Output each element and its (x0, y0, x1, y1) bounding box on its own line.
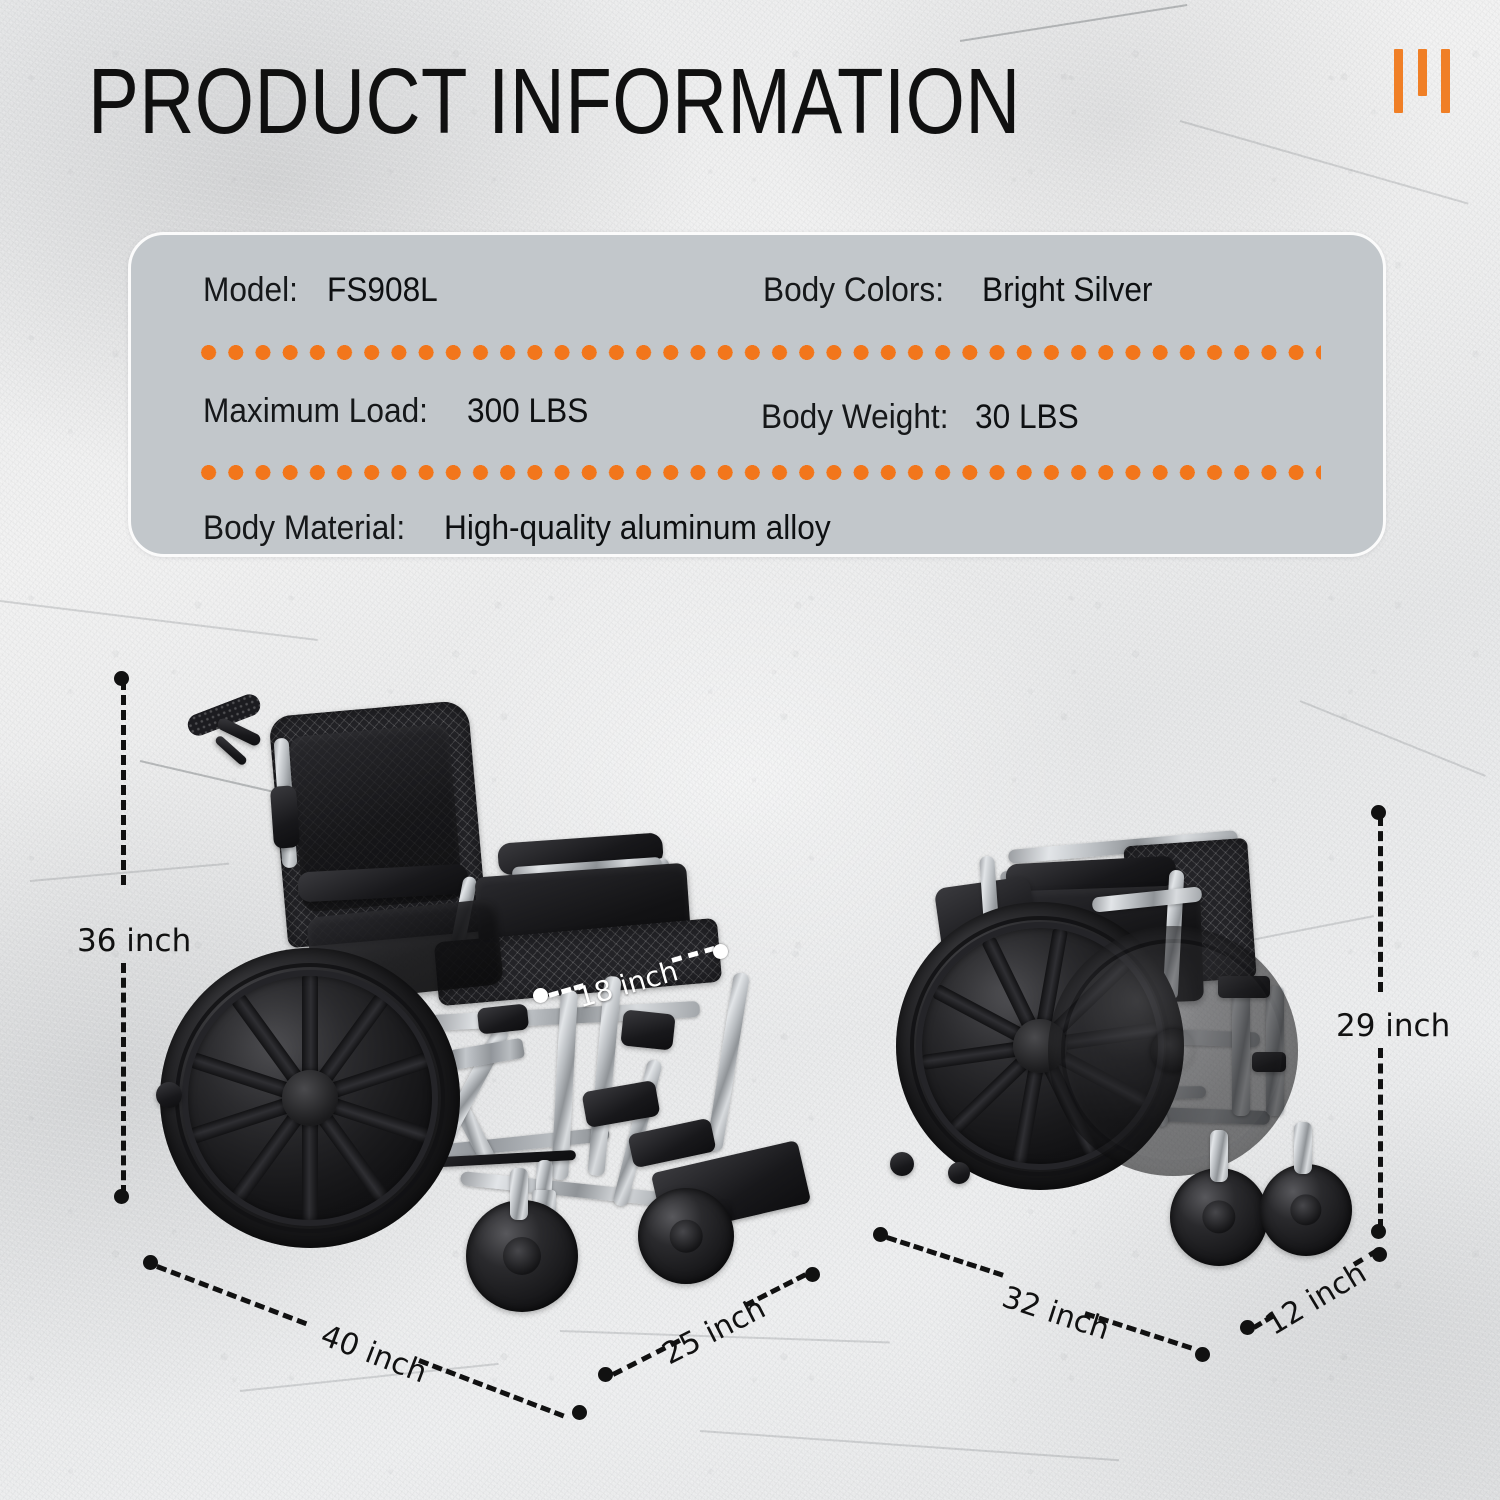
spec-cell-body-colors: Body Colors:Bright Silver (763, 259, 1165, 321)
spec-value: 300 LBS (467, 380, 588, 442)
legrest-pad (581, 1080, 660, 1128)
spec-value: FS908L (327, 259, 438, 321)
dotted-divider (195, 345, 1321, 360)
folded-caster-fork (1210, 1130, 1228, 1182)
spec-cell-body-material: Body Material:High-quality aluminum allo… (203, 497, 860, 559)
spec-cell-maximum-load: Maximum Load:300 LBS (203, 380, 597, 442)
spec-value: High-quality aluminum alloy (444, 497, 831, 559)
folded-wheel-knob (948, 1162, 970, 1184)
dim-endpoint-dot (713, 944, 728, 959)
backrest-post-cover (270, 785, 300, 849)
spec-label: Maximum Load: (203, 380, 428, 442)
dim-line-36-inch-upper (121, 680, 126, 885)
spec-row: Body Material:High-quality aluminum allo… (131, 497, 1383, 559)
dim-endpoint-dot (1371, 1224, 1386, 1239)
three-bars-logo-icon (1392, 45, 1458, 113)
spec-row: Model:FS908L Body Colors:Bright Silver (131, 259, 1383, 321)
wheelchair-folded-view (880, 800, 1350, 1290)
frame-front-tube (706, 972, 750, 1152)
folded-caster-fork (1294, 1122, 1312, 1174)
spec-label: Body Colors: (763, 259, 944, 321)
wheelchair-open-side-view (160, 690, 800, 1330)
dim-endpoint-dot (1372, 1247, 1387, 1262)
dim-endpoint-dot (572, 1405, 587, 1420)
spec-card: Model:FS908L Body Colors:Bright Silver M… (128, 232, 1386, 557)
frame-hinge (620, 1009, 675, 1050)
rear-caster-wheel (638, 1188, 734, 1284)
folded-wheel-knob (890, 1152, 914, 1176)
dotted-divider (195, 465, 1321, 480)
dim-endpoint-dot (114, 1189, 129, 1204)
spec-value: 30 LBS (975, 386, 1079, 448)
spec-label: Body Material: (203, 497, 405, 559)
caster-fork (510, 1168, 528, 1220)
spec-label: Model: (203, 259, 298, 321)
dim-endpoint-dot (805, 1267, 820, 1282)
dim-line-29-inch-upper (1378, 816, 1383, 992)
spec-cell-body-weight: Body Weight:30 LBS (761, 386, 1086, 448)
spec-label: Body Weight: (761, 386, 948, 448)
brake-clamp (477, 1003, 529, 1034)
dim-line-29-inch-lower (1378, 1048, 1383, 1229)
dim-endpoint-dot (533, 988, 548, 1003)
folded-far-wheel (1048, 926, 1298, 1176)
spec-value: Bright Silver (982, 259, 1152, 321)
infographic-page: PRODUCT INFORMATION Model:FS908L Body Co… (0, 0, 1500, 1500)
dim-label-29-inch: 29 inch (1336, 1011, 1450, 1042)
wheel-lock-knob (156, 1082, 182, 1108)
folded-caster-wheel-2 (1260, 1164, 1352, 1256)
dim-endpoint-dot (598, 1367, 613, 1382)
dim-line-36-inch-lower (121, 963, 126, 1195)
dim-endpoint-dot (1240, 1320, 1255, 1335)
dim-endpoint-dot (1195, 1347, 1210, 1362)
spec-cell-model: Model:FS908L (203, 259, 446, 321)
dim-label-36-inch: 36 inch (77, 926, 191, 957)
page-title: PRODUCT INFORMATION (88, 55, 1021, 148)
hand-rim (182, 970, 438, 1226)
spec-row: Maximum Load:300 LBS Body Weight:30 LBS (131, 380, 1383, 442)
folded-caster-wheel (1170, 1168, 1268, 1266)
